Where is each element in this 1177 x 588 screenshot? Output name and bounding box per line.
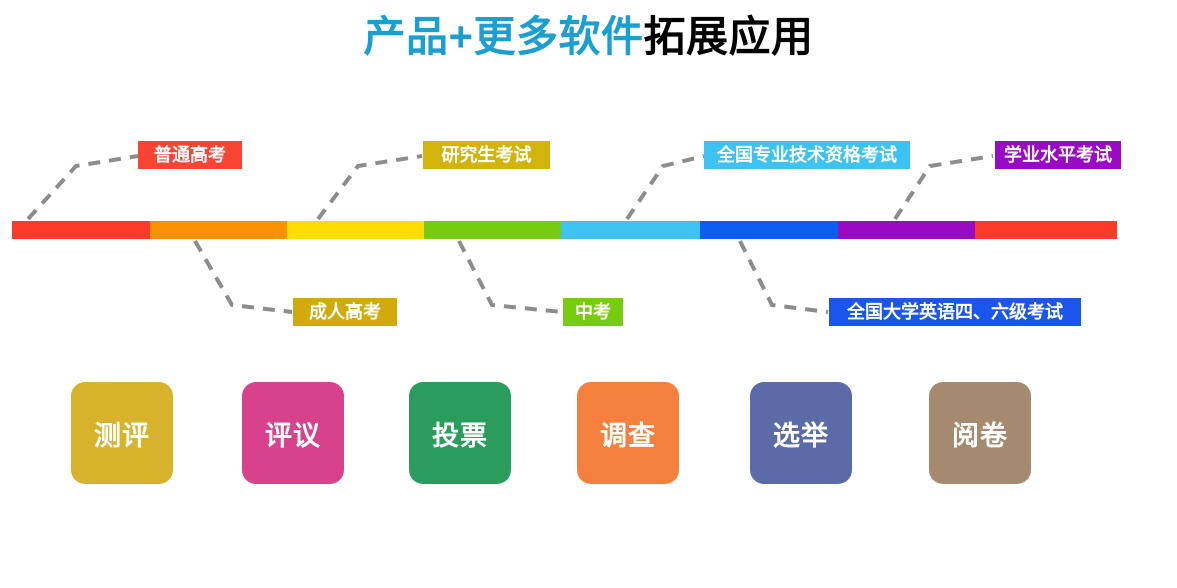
- connector-zhongkao: [459, 241, 562, 312]
- page-title: 产品+更多软件拓展应用: [0, 10, 1177, 64]
- tag-putong-gaokao[interactable]: 普通高考: [138, 141, 242, 169]
- tag-zhongkao[interactable]: 中考: [563, 298, 623, 326]
- card-yuejuan[interactable]: 阅卷: [929, 382, 1031, 484]
- infographic-stage: 产品+更多软件拓展应用 普通高考研究生考试全国专业技术资格考试学业水平考试成人高…: [0, 0, 1177, 588]
- card-pingyi[interactable]: 评议: [242, 382, 344, 484]
- connector-lines: [0, 0, 1177, 588]
- spectrum-segment-green: [424, 221, 561, 239]
- spectrum-segment-orange: [150, 221, 287, 239]
- connector-chengren-gaokao: [195, 241, 292, 312]
- page-title-highlight: 产品+更多软件: [363, 13, 643, 60]
- tag-chengren-gaokao[interactable]: 成人高考: [293, 298, 397, 326]
- connector-yanjiusheng-kaoshi: [318, 156, 422, 219]
- card-toupiao[interactable]: 投票: [409, 382, 511, 484]
- feature-card-row: 测评评议投票调查选举阅卷: [0, 382, 1177, 492]
- connector-cet46: [740, 241, 828, 312]
- spectrum-segment-red-end: [975, 221, 1117, 239]
- connector-quanguo-zhuanye: [627, 156, 704, 219]
- card-diaocha[interactable]: 调查: [577, 382, 679, 484]
- exam-spectrum-bar: [12, 221, 1117, 239]
- tag-yanjiusheng-kaoshi[interactable]: 研究生考试: [423, 141, 550, 169]
- spectrum-segment-yellow: [287, 221, 424, 239]
- page-title-rest: 拓展应用: [644, 13, 814, 60]
- spectrum-segment-cyan: [561, 221, 700, 239]
- connector-putong-gaokao: [28, 156, 138, 219]
- spectrum-segment-purple: [838, 221, 975, 239]
- card-xuanju[interactable]: 选举: [750, 382, 852, 484]
- spectrum-segment-blue: [700, 221, 838, 239]
- tag-quanguo-zhuanye-jishu[interactable]: 全国专业技术资格考试: [704, 141, 910, 169]
- spectrum-segment-red: [12, 221, 150, 239]
- card-ceping[interactable]: 测评: [71, 382, 173, 484]
- tag-cet-46[interactable]: 全国大学英语四、六级考试: [829, 298, 1081, 326]
- tag-xueye-shuiping[interactable]: 学业水平考试: [995, 141, 1121, 169]
